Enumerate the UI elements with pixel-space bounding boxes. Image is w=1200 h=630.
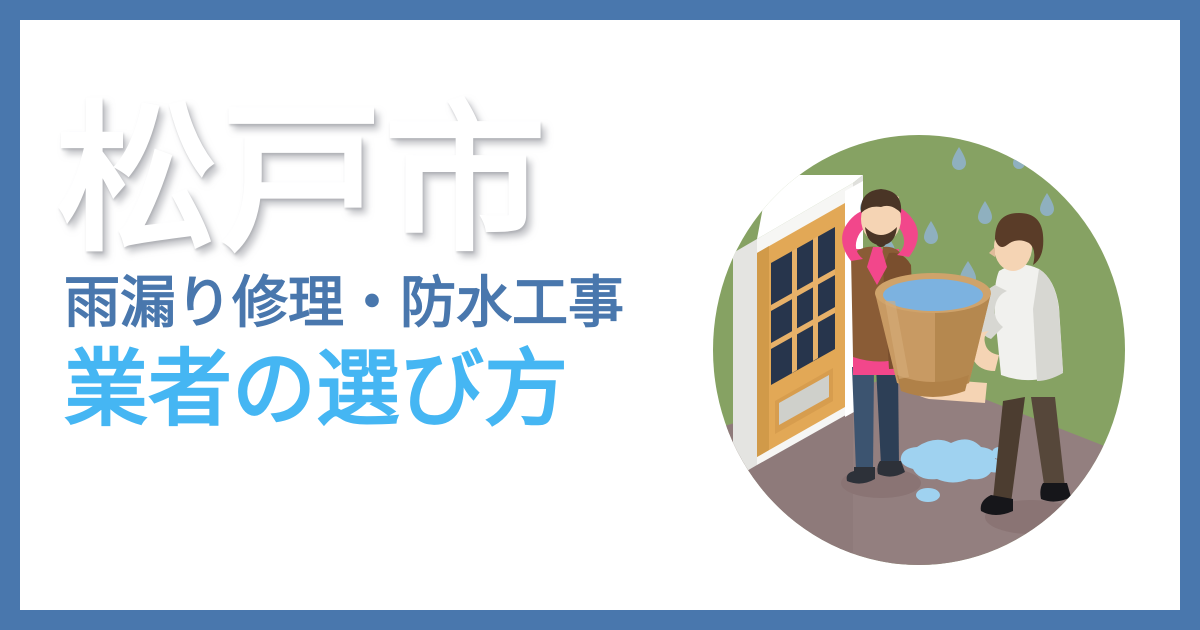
door-mullion-v1 xyxy=(792,248,797,373)
bucket-water-surface xyxy=(883,279,983,311)
door-frame-left xyxy=(733,239,757,479)
page-title-city: 松戸市 xyxy=(56,100,736,262)
banner-canvas: 松戸市 雨漏り修理・防水工事 業者の選び方 xyxy=(20,20,1180,610)
banner-root: 松戸市 雨漏り修理・防水工事 業者の選び方 xyxy=(0,0,1200,630)
subtitle-service: 雨漏り修理・防水工事 xyxy=(64,274,736,333)
subtitle-how-to-choose: 業者の選び方 xyxy=(64,345,736,433)
door-slab-shade xyxy=(757,246,769,457)
man2-shoe-front xyxy=(1040,483,1071,502)
puddle-droplet-tiny xyxy=(916,488,940,502)
roof-leak-scene-svg xyxy=(713,135,1125,565)
headline-group: 松戸市 雨漏り修理・防水工事 業者の選び方 xyxy=(56,100,736,433)
door-mullion-v2 xyxy=(813,236,818,361)
illustration-roof-leak xyxy=(713,135,1125,565)
drop-icon xyxy=(1013,150,1025,169)
